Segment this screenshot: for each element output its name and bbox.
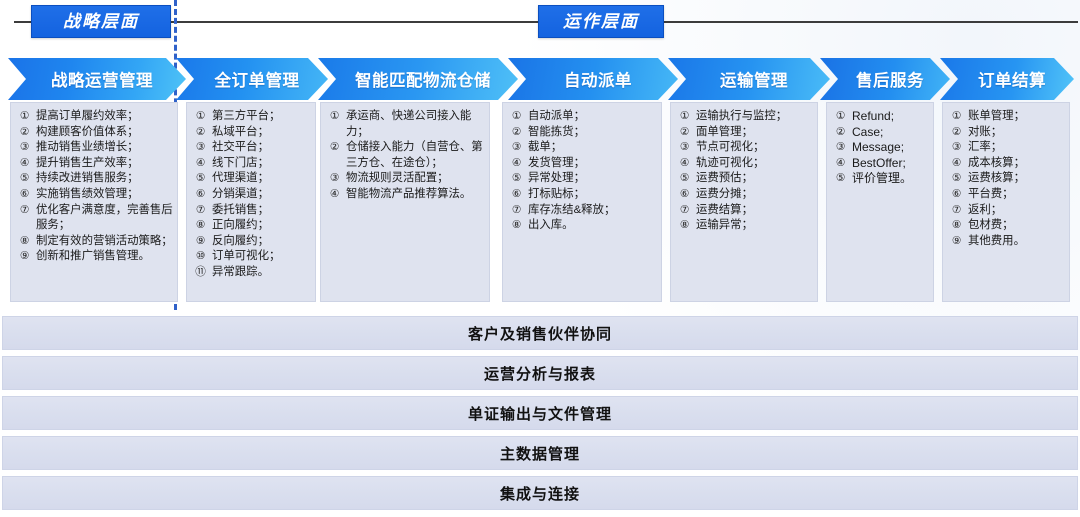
stage-item-number: ⑤ bbox=[191, 171, 210, 187]
foundation-bar-stack: 客户及销售伙伴协同 运营分析与报表 单证输出与文件管理 主数据管理 集成与连接 bbox=[0, 310, 1080, 517]
stage-panel-strategy-operations-management: ①提高订单履约效率；②构建顾客价值体系；③推动销售业绩增长；④提升销售生产效率；… bbox=[10, 102, 178, 302]
stage-item-number: ① bbox=[831, 109, 850, 125]
stage-item-text: 推动销售业绩增长； bbox=[34, 140, 173, 156]
stage-item-list: ①账单管理；②对账；③汇率；④成本核算；⑤运费核算；⑥平台费；⑦返利；⑧包材费；… bbox=[947, 109, 1065, 249]
layer-chip-operations: 运作层面 bbox=[538, 5, 664, 38]
stage-item-number: ③ bbox=[675, 140, 694, 156]
stage-item-number: ⑤ bbox=[675, 171, 694, 187]
stage-item-number: ⑤ bbox=[507, 171, 526, 187]
stage-item-text: Refund; bbox=[850, 109, 929, 125]
stage-item-text: 构建顾客价值体系； bbox=[34, 125, 173, 141]
stage-item-text: 代理渠道； bbox=[210, 171, 311, 187]
stage-item-number: ⑪ bbox=[191, 265, 210, 281]
stage-item: ④成本核算； bbox=[947, 156, 1065, 172]
stage-item-text: 其他费用。 bbox=[966, 234, 1065, 250]
stage-item-number: ④ bbox=[325, 187, 344, 203]
stage-item-number: ① bbox=[675, 109, 694, 125]
stage-item: ③Message; bbox=[831, 140, 929, 156]
stage-item: ⑧包材费； bbox=[947, 218, 1065, 234]
stage-item-text: 打标贴标； bbox=[526, 187, 657, 203]
stage-item: ⑩订单可视化； bbox=[191, 249, 311, 265]
stage-item-text: 面单管理； bbox=[694, 125, 813, 141]
stage-item-number: ① bbox=[507, 109, 526, 125]
stage-item: ④提升销售生产效率； bbox=[15, 156, 173, 172]
stage-item: ③汇率； bbox=[947, 140, 1065, 156]
stage-panel-after-sales-service: ①Refund;②Case;③Message;④BestOffer;⑤评价管理。 bbox=[826, 102, 934, 302]
stage-item-number: ④ bbox=[675, 156, 694, 172]
stage-item-number: ⑦ bbox=[15, 203, 34, 219]
stage-item-text: 发货管理； bbox=[526, 156, 657, 172]
stage-item-number: ⑨ bbox=[191, 234, 210, 250]
stage-item: ⑤运费核算； bbox=[947, 171, 1065, 187]
stage-item: ④智能物流产品推荐算法。 bbox=[325, 187, 485, 203]
foundation-bar-customer-partner-collaboration[interactable]: 客户及销售伙伴协同 bbox=[2, 316, 1078, 350]
stage-item-number: ② bbox=[675, 125, 694, 141]
stage-item-text: 包材费； bbox=[966, 218, 1065, 234]
stage-item-text: 出入库。 bbox=[526, 218, 657, 234]
stage-panel-auto-dispatch: ①自动派单；②智能拣货；③截单；④发货管理；⑤异常处理；⑥打标贴标；⑦库存冻结&… bbox=[502, 102, 662, 302]
stage-item-number: ⑦ bbox=[507, 203, 526, 219]
stage-item: ①Refund; bbox=[831, 109, 929, 125]
stage-item-text: 反向履约； bbox=[210, 234, 311, 250]
stage-item: ⑤异常处理； bbox=[507, 171, 657, 187]
stage-item-number: ⑥ bbox=[675, 187, 694, 203]
foundation-bar-label: 运营分析与报表 bbox=[484, 363, 596, 384]
stage-item: ②Case; bbox=[831, 125, 929, 141]
stage-item-text: 提高订单履约效率； bbox=[34, 109, 173, 125]
foundation-bar-label: 集成与连接 bbox=[500, 483, 580, 504]
foundation-bar-label: 单证输出与文件管理 bbox=[468, 403, 612, 424]
stage-item-number: ⑦ bbox=[675, 203, 694, 219]
stage-item-text: 创新和推广销售管理。 bbox=[34, 249, 173, 265]
stage-arrow-full-order-management[interactable]: 全订单管理 bbox=[176, 58, 328, 100]
stage-item: ①账单管理； bbox=[947, 109, 1065, 125]
foundation-bar-integration-connectivity[interactable]: 集成与连接 bbox=[2, 476, 1078, 510]
stage-item-text: 轨迹可视化； bbox=[694, 156, 813, 172]
stage-item: ③物流规则灵活配置； bbox=[325, 171, 485, 187]
foundation-bar-operations-analytics-reporting[interactable]: 运营分析与报表 bbox=[2, 356, 1078, 390]
stage-item-list: ①承运商、快递公司接入能力；②仓储接入能力（自营仓、第三方仓、在途仓）；③物流规… bbox=[325, 109, 485, 203]
stage-item: ⑤运费预估； bbox=[675, 171, 813, 187]
stage-item-text: 运费预估； bbox=[694, 171, 813, 187]
stage-item: ⑦库存冻结&释放； bbox=[507, 203, 657, 219]
stage-item: ①运输执行与监控； bbox=[675, 109, 813, 125]
stage-panel-full-order-management: ①第三方平台；②私域平台；③社交平台；④线下门店；⑤代理渠道；⑥分销渠道；⑦委托… bbox=[186, 102, 316, 302]
stage-item-number: ③ bbox=[831, 140, 850, 156]
stage-item-text: 运输异常； bbox=[694, 218, 813, 234]
stage-item-number: ④ bbox=[831, 156, 850, 172]
stage-item: ⑥分销渠道； bbox=[191, 187, 311, 203]
stage-item-text: BestOffer; bbox=[850, 156, 929, 172]
stage-panel-smart-matching-logistics-warehouse: ①承运商、快递公司接入能力；②仓储接入能力（自营仓、第三方仓、在途仓）；③物流规… bbox=[320, 102, 490, 302]
stage-item-text: 实施销售绩效管理； bbox=[34, 187, 173, 203]
stage-item-text: 账单管理； bbox=[966, 109, 1065, 125]
stage-arrow-strategy-operations-management[interactable]: 战略运营管理 bbox=[8, 58, 186, 100]
stage-item-number: ③ bbox=[15, 140, 34, 156]
stage-item-text: Message; bbox=[850, 140, 929, 156]
stage-item-number: ② bbox=[947, 125, 966, 141]
stage-item-number: ⑥ bbox=[15, 187, 34, 203]
stage-item-number: ① bbox=[947, 109, 966, 125]
stage-item-number: ⑤ bbox=[15, 171, 34, 187]
stage-item: ④轨迹可视化； bbox=[675, 156, 813, 172]
stage-item-number: ③ bbox=[947, 140, 966, 156]
layer-chip-strategy: 战略层面 bbox=[31, 5, 171, 38]
stage-item: ①第三方平台； bbox=[191, 109, 311, 125]
stage-item-text: 运输执行与监控； bbox=[694, 109, 813, 125]
stage-item-text: 运费分摊； bbox=[694, 187, 813, 203]
stage-item-text: 第三方平台； bbox=[210, 109, 311, 125]
stage-item: ⑤持续改进销售服务； bbox=[15, 171, 173, 187]
stage-item: ①提高订单履约效率； bbox=[15, 109, 173, 125]
stage-item-text: 订单可视化； bbox=[210, 249, 311, 265]
stage-item-text: 线下门店； bbox=[210, 156, 311, 172]
stage-item-number: ⑦ bbox=[947, 203, 966, 219]
stage-item-number: ⑧ bbox=[947, 218, 966, 234]
process-arrow-row: 战略运营管理 全订单管理 智能匹配物流仓储 自动派单 运输管理 售后服务 订单结… bbox=[0, 58, 1080, 100]
stage-item-number: ② bbox=[15, 125, 34, 141]
stage-item-number: ② bbox=[325, 140, 344, 156]
diagram-canvas: 战略层面 运作层面 战略运营管理 全订单管理 智能匹配物流仓储 自动派单 运输管… bbox=[0, 0, 1080, 517]
stage-item-text: 评价管理。 bbox=[850, 171, 929, 187]
stage-item-text: 承运商、快递公司接入能力； bbox=[344, 109, 485, 140]
stage-item-text: 制定有效的营销活动策略； bbox=[34, 234, 173, 250]
stage-arrow-auto-dispatch[interactable]: 自动派单 bbox=[508, 58, 678, 100]
stage-arrow-label: 智能匹配物流仓储 bbox=[345, 67, 491, 91]
stage-arrow-after-sales-service[interactable]: 售后服务 bbox=[820, 58, 950, 100]
stage-item-number: ⑨ bbox=[947, 234, 966, 250]
stage-item-number: ④ bbox=[191, 156, 210, 172]
foundation-bar-label: 主数据管理 bbox=[500, 443, 580, 464]
layer-chip-operations-label: 运作层面 bbox=[563, 13, 639, 30]
stage-item-number: ⑥ bbox=[507, 187, 526, 203]
stage-item-number: ④ bbox=[507, 156, 526, 172]
stage-item-number: ⑤ bbox=[831, 171, 850, 187]
stage-item: ⑦运费结算； bbox=[675, 203, 813, 219]
stage-item: ①承运商、快递公司接入能力； bbox=[325, 109, 485, 140]
stage-item-number: ③ bbox=[191, 140, 210, 156]
stage-item-number: ② bbox=[191, 125, 210, 141]
stage-item-number: ⑤ bbox=[947, 171, 966, 187]
layer-chip-strategy-label: 战略层面 bbox=[63, 13, 139, 30]
stage-item-number: ② bbox=[831, 125, 850, 141]
foundation-bar-master-data-management[interactable]: 主数据管理 bbox=[2, 436, 1078, 470]
stage-item-text: 返利； bbox=[966, 203, 1065, 219]
stage-item: ⑦委托销售； bbox=[191, 203, 311, 219]
stage-item-number: ① bbox=[191, 109, 210, 125]
stage-item: ⑧制定有效的营销活动策略； bbox=[15, 234, 173, 250]
stage-item-number: ④ bbox=[947, 156, 966, 172]
stage-item: ②智能拣货； bbox=[507, 125, 657, 141]
stage-item: ⑧出入库。 bbox=[507, 218, 657, 234]
stage-item: ②仓储接入能力（自营仓、第三方仓、在途仓）； bbox=[325, 140, 485, 171]
stage-arrow-label: 全订单管理 bbox=[205, 67, 300, 91]
stage-arrow-smart-matching-logistics-warehouse[interactable]: 智能匹配物流仓储 bbox=[318, 58, 518, 100]
stage-item: ②私域平台； bbox=[191, 125, 311, 141]
stage-item: ⑧正向履约； bbox=[191, 218, 311, 234]
stage-item-text: Case; bbox=[850, 125, 929, 141]
stage-item: ⑤代理渠道； bbox=[191, 171, 311, 187]
stage-item-text: 分销渠道； bbox=[210, 187, 311, 203]
stage-item: ①自动派单； bbox=[507, 109, 657, 125]
stage-item: ③推动销售业绩增长； bbox=[15, 140, 173, 156]
stage-item: ⑥平台费； bbox=[947, 187, 1065, 203]
stage-item-number: ④ bbox=[15, 156, 34, 172]
stage-panel-order-settlement: ①账单管理；②对账；③汇率；④成本核算；⑤运费核算；⑥平台费；⑦返利；⑧包材费；… bbox=[942, 102, 1070, 302]
stage-item-text: 异常跟踪。 bbox=[210, 265, 311, 281]
stage-item-text: 仓储接入能力（自营仓、第三方仓、在途仓）； bbox=[344, 140, 485, 171]
stage-item-list: ①第三方平台；②私域平台；③社交平台；④线下门店；⑤代理渠道；⑥分销渠道；⑦委托… bbox=[191, 109, 311, 281]
stage-item: ④发货管理； bbox=[507, 156, 657, 172]
stage-item: ③截单； bbox=[507, 140, 657, 156]
stage-item-number: ⑨ bbox=[15, 249, 34, 265]
stage-item-text: 物流规则灵活配置； bbox=[344, 171, 485, 187]
stage-item-number: ③ bbox=[325, 171, 344, 187]
stage-item: ⑨其他费用。 bbox=[947, 234, 1065, 250]
stage-item: ③社交平台； bbox=[191, 140, 311, 156]
stage-item: ⑧运输异常； bbox=[675, 218, 813, 234]
stage-item: ④BestOffer; bbox=[831, 156, 929, 172]
stage-item: ⑨反向履约； bbox=[191, 234, 311, 250]
stage-item-number: ⑧ bbox=[191, 218, 210, 234]
stage-item-text: 智能物流产品推荐算法。 bbox=[344, 187, 485, 203]
stage-item-text: 异常处理； bbox=[526, 171, 657, 187]
stage-item-text: 社交平台； bbox=[210, 140, 311, 156]
stage-item-text: 运费结算； bbox=[694, 203, 813, 219]
stage-item-text: 提升销售生产效率； bbox=[34, 156, 173, 172]
stage-item: ④线下门店； bbox=[191, 156, 311, 172]
stage-item-number: ⑧ bbox=[675, 218, 694, 234]
stage-item: ⑪异常跟踪。 bbox=[191, 265, 311, 281]
stage-item-list: ①Refund;②Case;③Message;④BestOffer;⑤评价管理。 bbox=[831, 109, 929, 187]
stage-panel-transport-management: ①运输执行与监控；②面单管理；③节点可视化；④轨迹可视化；⑤运费预估；⑥运费分摊… bbox=[670, 102, 818, 302]
stage-arrow-transport-management[interactable]: 运输管理 bbox=[668, 58, 830, 100]
stage-item-number: ⑩ bbox=[191, 249, 210, 265]
stage-item-number: ⑥ bbox=[191, 187, 210, 203]
stage-item-text: 截单； bbox=[526, 140, 657, 156]
stage-item: ③节点可视化； bbox=[675, 140, 813, 156]
stage-item: ②对账； bbox=[947, 125, 1065, 141]
stage-item-text: 委托销售； bbox=[210, 203, 311, 219]
stage-arrow-label: 自动派单 bbox=[554, 67, 632, 91]
stage-item: ⑨创新和推广销售管理。 bbox=[15, 249, 173, 265]
stage-item-number: ⑥ bbox=[947, 187, 966, 203]
stage-item: ⑥运费分摊； bbox=[675, 187, 813, 203]
stage-item-text: 对账； bbox=[966, 125, 1065, 141]
stage-item-text: 库存冻结&释放； bbox=[526, 203, 657, 219]
stage-item: ②面单管理； bbox=[675, 125, 813, 141]
stage-item-text: 节点可视化； bbox=[694, 140, 813, 156]
stage-item: ②构建顾客价值体系； bbox=[15, 125, 173, 141]
stage-item: ⑥打标贴标； bbox=[507, 187, 657, 203]
stage-item: ⑦优化客户满意度，完善售后服务； bbox=[15, 203, 173, 234]
stage-item-number: ① bbox=[15, 109, 34, 125]
stage-item-text: 运费核算； bbox=[966, 171, 1065, 187]
stage-item-text: 优化客户满意度，完善售后服务； bbox=[34, 203, 173, 234]
stage-arrow-label: 售后服务 bbox=[846, 67, 924, 91]
stage-item-text: 持续改进销售服务； bbox=[34, 171, 173, 187]
stage-item-text: 自动派单； bbox=[526, 109, 657, 125]
stage-item-list: ①提高订单履约效率；②构建顾客价值体系；③推动销售业绩增长；④提升销售生产效率；… bbox=[15, 109, 173, 265]
stage-item-number: ⑧ bbox=[15, 234, 34, 250]
stage-item-list: ①运输执行与监控；②面单管理；③节点可视化；④轨迹可视化；⑤运费预估；⑥运费分摊… bbox=[675, 109, 813, 234]
stage-arrow-order-settlement[interactable]: 订单结算 bbox=[940, 58, 1074, 100]
stage-item-text: 私域平台； bbox=[210, 125, 311, 141]
foundation-bar-document-output-file-management[interactable]: 单证输出与文件管理 bbox=[2, 396, 1078, 430]
layer-band: 战略层面 运作层面 bbox=[0, 0, 1080, 44]
stage-item-text: 成本核算； bbox=[966, 156, 1065, 172]
stage-item-number: ③ bbox=[507, 140, 526, 156]
stage-arrow-label: 订单结算 bbox=[968, 67, 1046, 91]
stage-item-number: ⑦ bbox=[191, 203, 210, 219]
foundation-bar-label: 客户及销售伙伴协同 bbox=[468, 323, 612, 344]
stage-arrow-label: 运输管理 bbox=[710, 67, 788, 91]
stage-item-number: ② bbox=[507, 125, 526, 141]
stage-item: ⑦返利； bbox=[947, 203, 1065, 219]
stage-item: ⑥实施销售绩效管理； bbox=[15, 187, 173, 203]
stage-item-number: ① bbox=[325, 109, 344, 125]
stage-item-number: ⑧ bbox=[507, 218, 526, 234]
stage-item-list: ①自动派单；②智能拣货；③截单；④发货管理；⑤异常处理；⑥打标贴标；⑦库存冻结&… bbox=[507, 109, 657, 234]
stage-item-text: 正向履约； bbox=[210, 218, 311, 234]
stage-item-text: 智能拣货； bbox=[526, 125, 657, 141]
stage-detail-panels: ①提高订单履约效率；②构建顾客价值体系；③推动销售业绩增长；④提升销售生产效率；… bbox=[0, 102, 1080, 302]
stage-item-text: 汇率； bbox=[966, 140, 1065, 156]
stage-arrow-label: 战略运营管理 bbox=[41, 67, 153, 91]
stage-item: ⑤评价管理。 bbox=[831, 171, 929, 187]
stage-item-text: 平台费； bbox=[966, 187, 1065, 203]
